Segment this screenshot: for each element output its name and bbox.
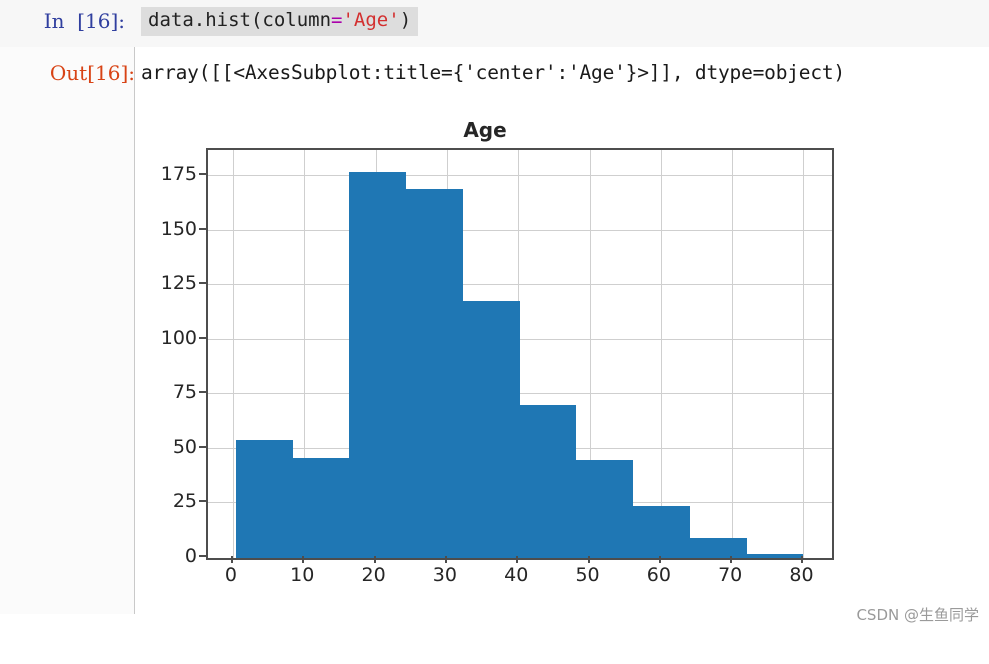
output-repr-text: array([[<AxesSubplot:title={'center':'Ag…: [135, 47, 989, 84]
x-axis-tick-mark: [801, 556, 803, 563]
x-axis-tick-mark: [730, 556, 732, 563]
histogram-bar: [576, 460, 633, 558]
notebook-container: In [16]: data.hist(column='Age') Out[16]…: [0, 0, 989, 631]
x-axis-tick-mark: [445, 556, 447, 563]
input-prompt-label: In [16]:: [0, 0, 135, 33]
code-suffix: ): [400, 9, 411, 31]
histogram-bar: [520, 405, 577, 558]
output-gutter: Out[16]:: [0, 47, 135, 614]
x-axis-tick-mark: [659, 556, 661, 563]
code-operator: =: [331, 9, 342, 31]
gridline-vertical: [732, 150, 733, 558]
y-axis-tick-mark: [199, 391, 206, 393]
y-axis-tick-mark: [199, 173, 206, 175]
code-string-literal: 'Age': [342, 9, 399, 31]
histogram-bar: [463, 301, 520, 558]
x-axis-tick-label: 70: [700, 564, 760, 586]
y-axis-tick-mark: [199, 446, 206, 448]
input-cell[interactable]: In [16]: data.hist(column='Age'): [0, 0, 989, 48]
y-axis-tick-label: 100: [149, 327, 197, 349]
y-axis-tick-label: 25: [149, 490, 197, 512]
gridline-horizontal: [208, 339, 832, 340]
gridline-vertical: [803, 150, 804, 558]
x-axis-tick-label: 10: [272, 564, 332, 586]
x-axis-tick-label: 20: [344, 564, 404, 586]
x-axis-tick-label: 50: [558, 564, 618, 586]
gridline-horizontal: [208, 393, 832, 394]
x-axis-tick-mark: [231, 556, 233, 563]
histogram-bar: [690, 538, 747, 558]
y-axis-tick-mark: [199, 555, 206, 557]
gridline-horizontal: [208, 175, 832, 176]
y-axis-tick-label: 50: [149, 436, 197, 458]
gridline-horizontal: [208, 284, 832, 285]
x-axis-tick-mark: [516, 556, 518, 563]
output-cell: Out[16]: array([[<AxesSubplot:title={'ce…: [0, 47, 989, 631]
y-axis-tick-label: 75: [149, 381, 197, 403]
histogram-bar: [349, 172, 406, 558]
x-axis-tick-mark: [302, 556, 304, 563]
x-axis-tick-mark: [374, 556, 376, 563]
y-axis-tick-label: 150: [149, 218, 197, 240]
histogram-bar: [406, 189, 463, 558]
input-code-area[interactable]: data.hist(column='Age'): [135, 0, 989, 36]
histogram-bar: [293, 458, 350, 558]
y-axis-tick-mark: [199, 337, 206, 339]
y-axis-tick-label: 175: [149, 163, 197, 185]
y-axis-tick-mark: [199, 500, 206, 502]
watermark-text: CSDN @生鱼同学: [856, 604, 979, 625]
x-axis-tick-label: 80: [771, 564, 831, 586]
histogram-bar: [236, 440, 293, 558]
code-prefix: data.hist(column: [148, 9, 331, 31]
x-axis-tick-label: 30: [415, 564, 475, 586]
y-axis-tick-mark: [199, 228, 206, 230]
chart-plot-area: [206, 148, 834, 560]
x-axis-tick-label: 0: [201, 564, 261, 586]
matplotlib-figure: Age 0255075100125150175 0102030405060708…: [135, 104, 989, 664]
code-editor[interactable]: data.hist(column='Age'): [141, 7, 418, 36]
chart-title: Age: [135, 118, 835, 142]
gridline-horizontal: [208, 230, 832, 231]
x-axis-tick-label: 60: [629, 564, 689, 586]
output-prompt-label: Out[16]:: [0, 61, 135, 85]
histogram-bar: [633, 506, 690, 558]
gridline-vertical: [661, 150, 662, 558]
x-axis-tick-label: 40: [486, 564, 546, 586]
x-axis-tick-mark: [588, 556, 590, 563]
gridline-vertical: [233, 150, 234, 558]
y-axis-tick-label: 125: [149, 272, 197, 294]
y-axis-tick-label: 0: [149, 545, 197, 567]
output-body: array([[<AxesSubplot:title={'center':'Ag…: [135, 47, 989, 631]
histogram-bar: [747, 554, 804, 558]
y-axis-tick-mark: [199, 282, 206, 284]
